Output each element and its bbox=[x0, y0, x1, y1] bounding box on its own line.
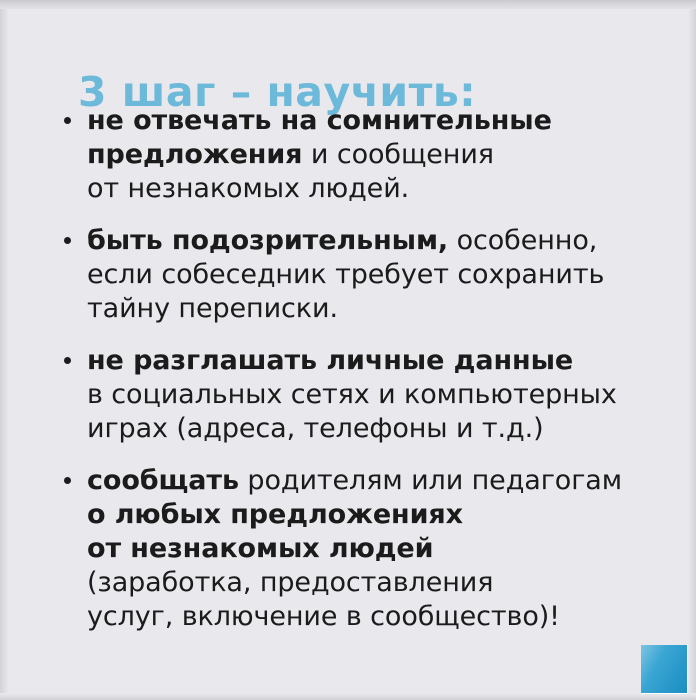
list-item-line: не разглашать личные данные bbox=[87, 344, 681, 378]
body-text: (заработка, предоставления bbox=[87, 567, 493, 598]
list-item: не отвечать на сомнительныепредложения и… bbox=[51, 104, 681, 206]
list-item-line: (заработка, предоставления bbox=[87, 566, 681, 600]
frame-top-edge bbox=[0, 0, 696, 9]
bullet-dot-icon bbox=[64, 477, 71, 484]
list-item-line: если собеседник требует сохранить bbox=[87, 258, 681, 292]
emphasis-text: предложения bbox=[87, 139, 302, 170]
frame-right-edge bbox=[688, 9, 696, 700]
list-item: сообщать родителям или педагогамо любых … bbox=[51, 464, 681, 634]
body-text: и сообщения bbox=[302, 139, 494, 170]
list-item-line: играх (адреса, телефоны и т.д.) bbox=[87, 412, 681, 446]
list-item-line: не отвечать на сомнительные bbox=[87, 104, 681, 138]
list-item: не разглашать личные данныев социальных … bbox=[51, 344, 681, 446]
slide-card: 3 шаг – научить: не отвечать на сомнител… bbox=[0, 0, 696, 700]
emphasis-text: о любых предложениях bbox=[87, 499, 463, 530]
accent-square bbox=[641, 645, 688, 694]
frame-bottom-edge bbox=[0, 693, 696, 700]
body-text: родителям или педагогам bbox=[239, 465, 622, 496]
body-text: в социальных сетях и компьютерных bbox=[87, 379, 617, 410]
list-item-line: от незнакомых людей. bbox=[87, 172, 681, 206]
emphasis-text: не отвечать на сомнительные bbox=[87, 105, 552, 136]
bullet-dot-icon bbox=[64, 357, 71, 364]
body-text: тайну переписки. bbox=[87, 293, 338, 324]
list-item-line: предложения и сообщения bbox=[87, 138, 681, 172]
list-item-line: о любых предложениях bbox=[87, 498, 681, 532]
list-item-line: от незнакомых людей bbox=[87, 532, 681, 566]
body-text: от незнакомых людей. bbox=[87, 173, 409, 204]
emphasis-text: не разглашать личные данные bbox=[87, 345, 573, 376]
body-text: играх (адреса, телефоны и т.д.) bbox=[87, 413, 544, 444]
list-item-line: тайну переписки. bbox=[87, 292, 681, 326]
list-item: быть подозрительным, особенно,если собес… bbox=[51, 224, 681, 326]
list-item-line: услуг, включение в сообщество)! bbox=[87, 600, 681, 634]
body-text: если собеседник требует сохранить bbox=[87, 259, 604, 290]
body-text: особенно, bbox=[448, 225, 597, 256]
body-text: услуг, включение в сообщество)! bbox=[87, 601, 560, 632]
frame-left-edge bbox=[0, 9, 9, 700]
emphasis-text: от незнакомых людей bbox=[87, 533, 433, 564]
emphasis-text: сообщать bbox=[87, 465, 239, 496]
bullet-dot-icon bbox=[64, 117, 71, 124]
list-item-line: быть подозрительным, особенно, bbox=[87, 224, 681, 258]
list-item-line: в социальных сетях и компьютерных bbox=[87, 378, 681, 412]
bullet-list: не отвечать на сомнительныепредложения и… bbox=[51, 104, 681, 634]
emphasis-text: быть подозрительным, bbox=[87, 225, 448, 256]
bullet-dot-icon bbox=[64, 237, 71, 244]
list-item-line: сообщать родителям или педагогам bbox=[87, 464, 681, 498]
slide-content: 3 шаг – научить: не отвечать на сомнител… bbox=[9, 9, 688, 693]
